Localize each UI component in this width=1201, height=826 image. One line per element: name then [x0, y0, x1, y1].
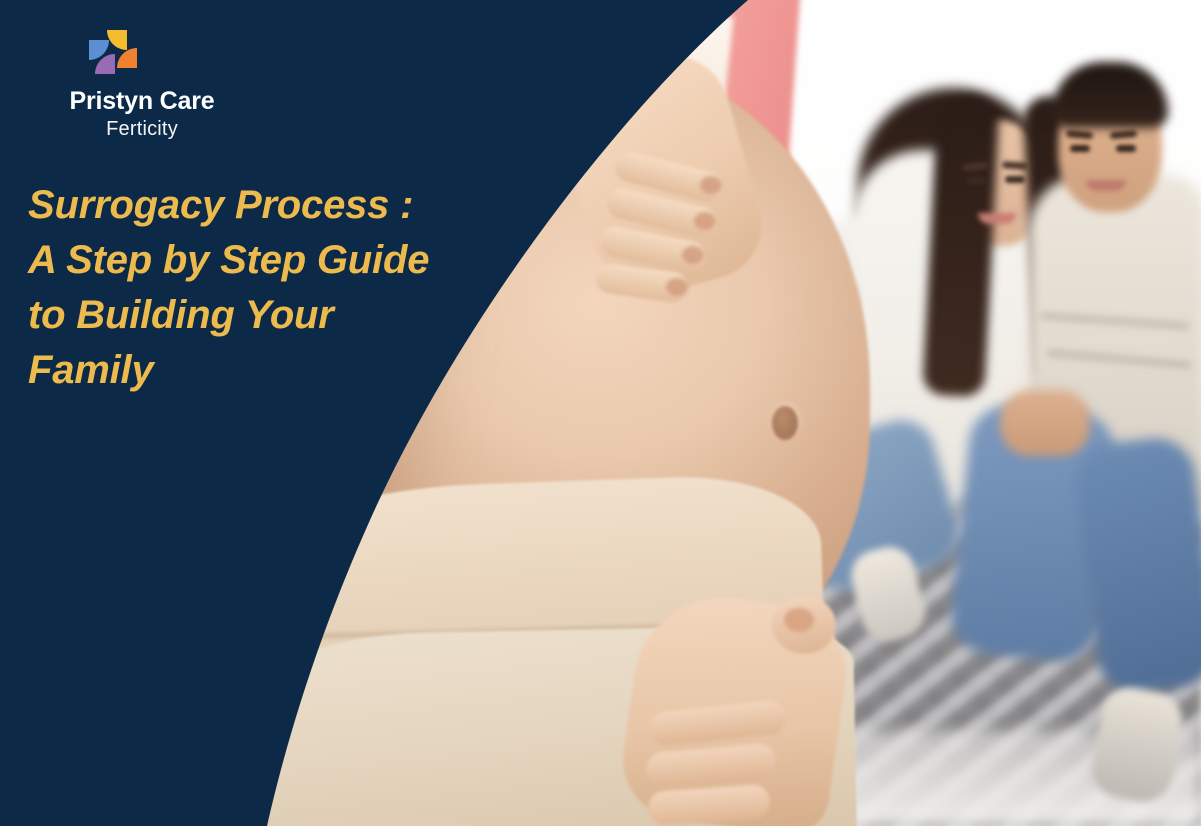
pristyn-care-pinwheel-icon: [85, 26, 141, 80]
banner-content: Pristyn Care Ferticity Surrogacy Process…: [0, 0, 1201, 826]
page-title: Surrogacy Process : A Step by Step Guide…: [28, 178, 498, 398]
brand-logo[interactable]: Pristyn Care Ferticity: [22, 26, 262, 141]
brand-name: Pristyn Care: [22, 88, 262, 114]
headline-line-2: A Step by Step Guide: [28, 233, 498, 288]
surrogacy-banner: Pristyn Care Ferticity Surrogacy Process…: [0, 0, 1201, 826]
brand-sub-name: Ferticity: [22, 117, 262, 141]
headline-line-1: Surrogacy Process :: [28, 178, 498, 233]
headline-line-3: to Building Your: [28, 288, 498, 343]
headline-line-4: Family: [28, 343, 498, 398]
